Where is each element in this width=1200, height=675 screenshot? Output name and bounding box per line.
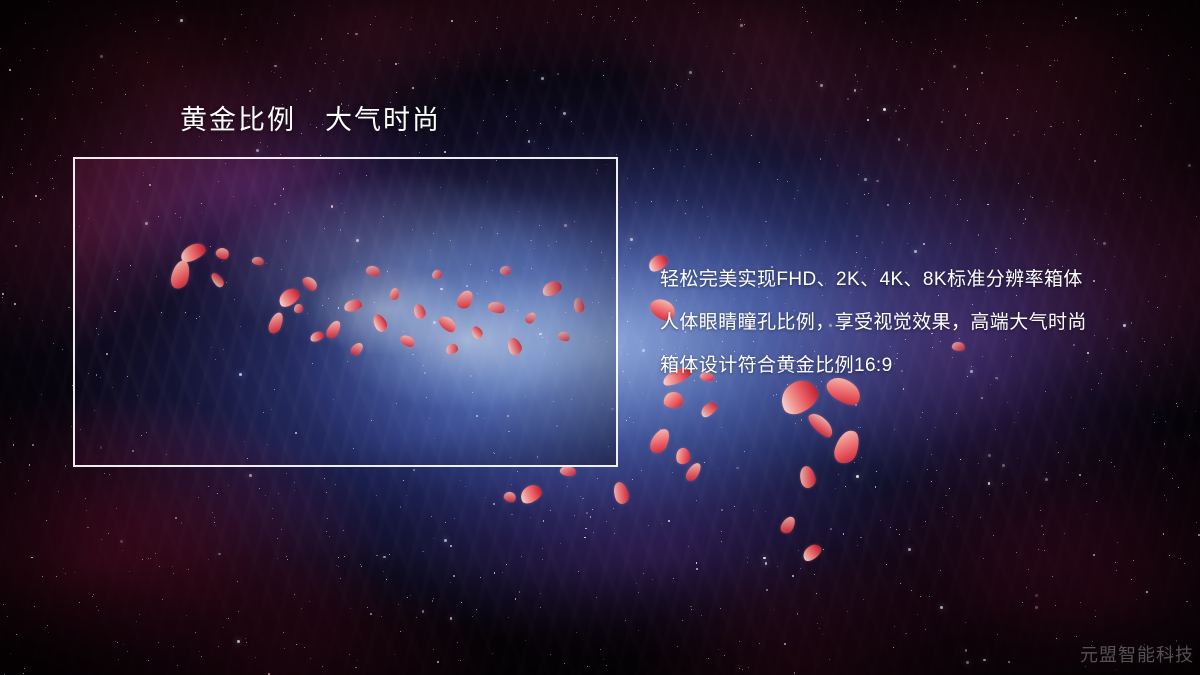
framed-image bbox=[73, 157, 618, 467]
watermark: 元盟智能科技 bbox=[1080, 641, 1194, 667]
framed-nebula-art bbox=[75, 159, 616, 465]
framed-nebula-background bbox=[75, 159, 616, 465]
body-line-3: 箱体设计符合黄金比例16:9 bbox=[660, 344, 1180, 387]
body-line-2: 人体眼睛瞳孔比例，享受视觉效果，高端大气时尚 bbox=[660, 301, 1180, 344]
body-copy: 轻松完美实现FHD、2K、4K、8K标准分辨率箱体 人体眼睛瞳孔比例，享受视觉效… bbox=[660, 258, 1180, 387]
body-line-1: 轻松完美实现FHD、2K、4K、8K标准分辨率箱体 bbox=[660, 258, 1180, 301]
page-title: 黄金比例 大气时尚 bbox=[180, 103, 441, 137]
framed-image-content bbox=[75, 159, 616, 465]
presentation-slide: 黄金比例 大气时尚 轻松完美实现FHD、2K、4K、8K标准分辨率箱体 人体眼睛… bbox=[0, 0, 1200, 675]
